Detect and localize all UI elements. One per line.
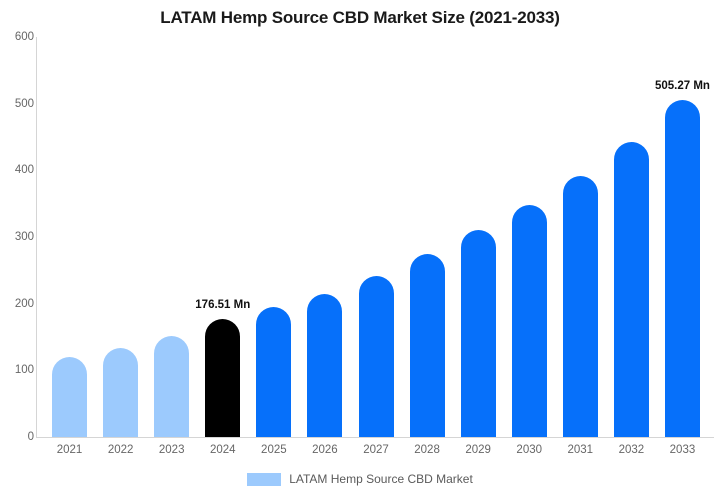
x-axis-tick-label-2022: 2022 — [108, 444, 134, 456]
bar-2021[interactable] — [52, 357, 87, 437]
bar-2032[interactable] — [614, 142, 649, 437]
x-axis-tick-label-2021: 2021 — [57, 444, 83, 456]
x-axis-tick-label-2027: 2027 — [363, 444, 389, 456]
x-axis-tick-label-2030: 2030 — [516, 444, 542, 456]
legend-swatch — [247, 473, 281, 486]
y-axis-tick-label: 400 — [2, 164, 34, 176]
x-axis-line — [36, 437, 714, 438]
y-axis-tick-label: 0 — [2, 431, 34, 443]
bar-2027[interactable] — [359, 276, 394, 437]
legend-label: LATAM Hemp Source CBD Market — [289, 472, 473, 486]
bar-2022[interactable] — [103, 348, 138, 437]
y-axis-tick-label: 300 — [2, 231, 34, 243]
y-axis-tick-label: 600 — [2, 31, 34, 43]
y-axis-tick-label: 100 — [2, 364, 34, 376]
x-axis-tick-label-2025: 2025 — [261, 444, 287, 456]
x-axis-tick-label-2032: 2032 — [619, 444, 645, 456]
bar-2024[interactable] — [205, 319, 240, 437]
x-axis-tick-label-2023: 2023 — [159, 444, 185, 456]
x-axis-tick-label-2029: 2029 — [465, 444, 491, 456]
bar-chart: LATAM Hemp Source CBD Market Size (2021-… — [0, 0, 720, 500]
y-axis-tick-label: 200 — [2, 298, 34, 310]
bar-2026[interactable] — [307, 294, 342, 437]
x-axis-tick-label-2033: 2033 — [670, 444, 696, 456]
y-axis-tick-label: 500 — [2, 98, 34, 110]
plot-area: 176.51 Mn505.27 Mn — [36, 37, 714, 437]
x-axis-tick-label-2024: 2024 — [210, 444, 236, 456]
bar-2025[interactable] — [256, 307, 291, 437]
x-axis-tick-label-2031: 2031 — [568, 444, 594, 456]
chart-title: LATAM Hemp Source CBD Market Size (2021-… — [0, 8, 720, 28]
bar-2033[interactable] — [665, 100, 700, 437]
bar-2028[interactable] — [410, 254, 445, 437]
bar-2031[interactable] — [563, 176, 598, 437]
y-axis-tick-labels: 0100200300400500600 — [0, 0, 34, 500]
bar-2030[interactable] — [512, 205, 547, 437]
bar-value-label-2033: 505.27 Mn — [655, 80, 710, 92]
bar-2023[interactable] — [154, 336, 189, 437]
chart-legend: LATAM Hemp Source CBD Market — [0, 472, 720, 486]
bar-value-label-2024: 176.51 Mn — [195, 299, 250, 311]
x-axis-tick-label-2026: 2026 — [312, 444, 338, 456]
bar-2029[interactable] — [461, 230, 496, 437]
x-axis-tick-label-2028: 2028 — [414, 444, 440, 456]
